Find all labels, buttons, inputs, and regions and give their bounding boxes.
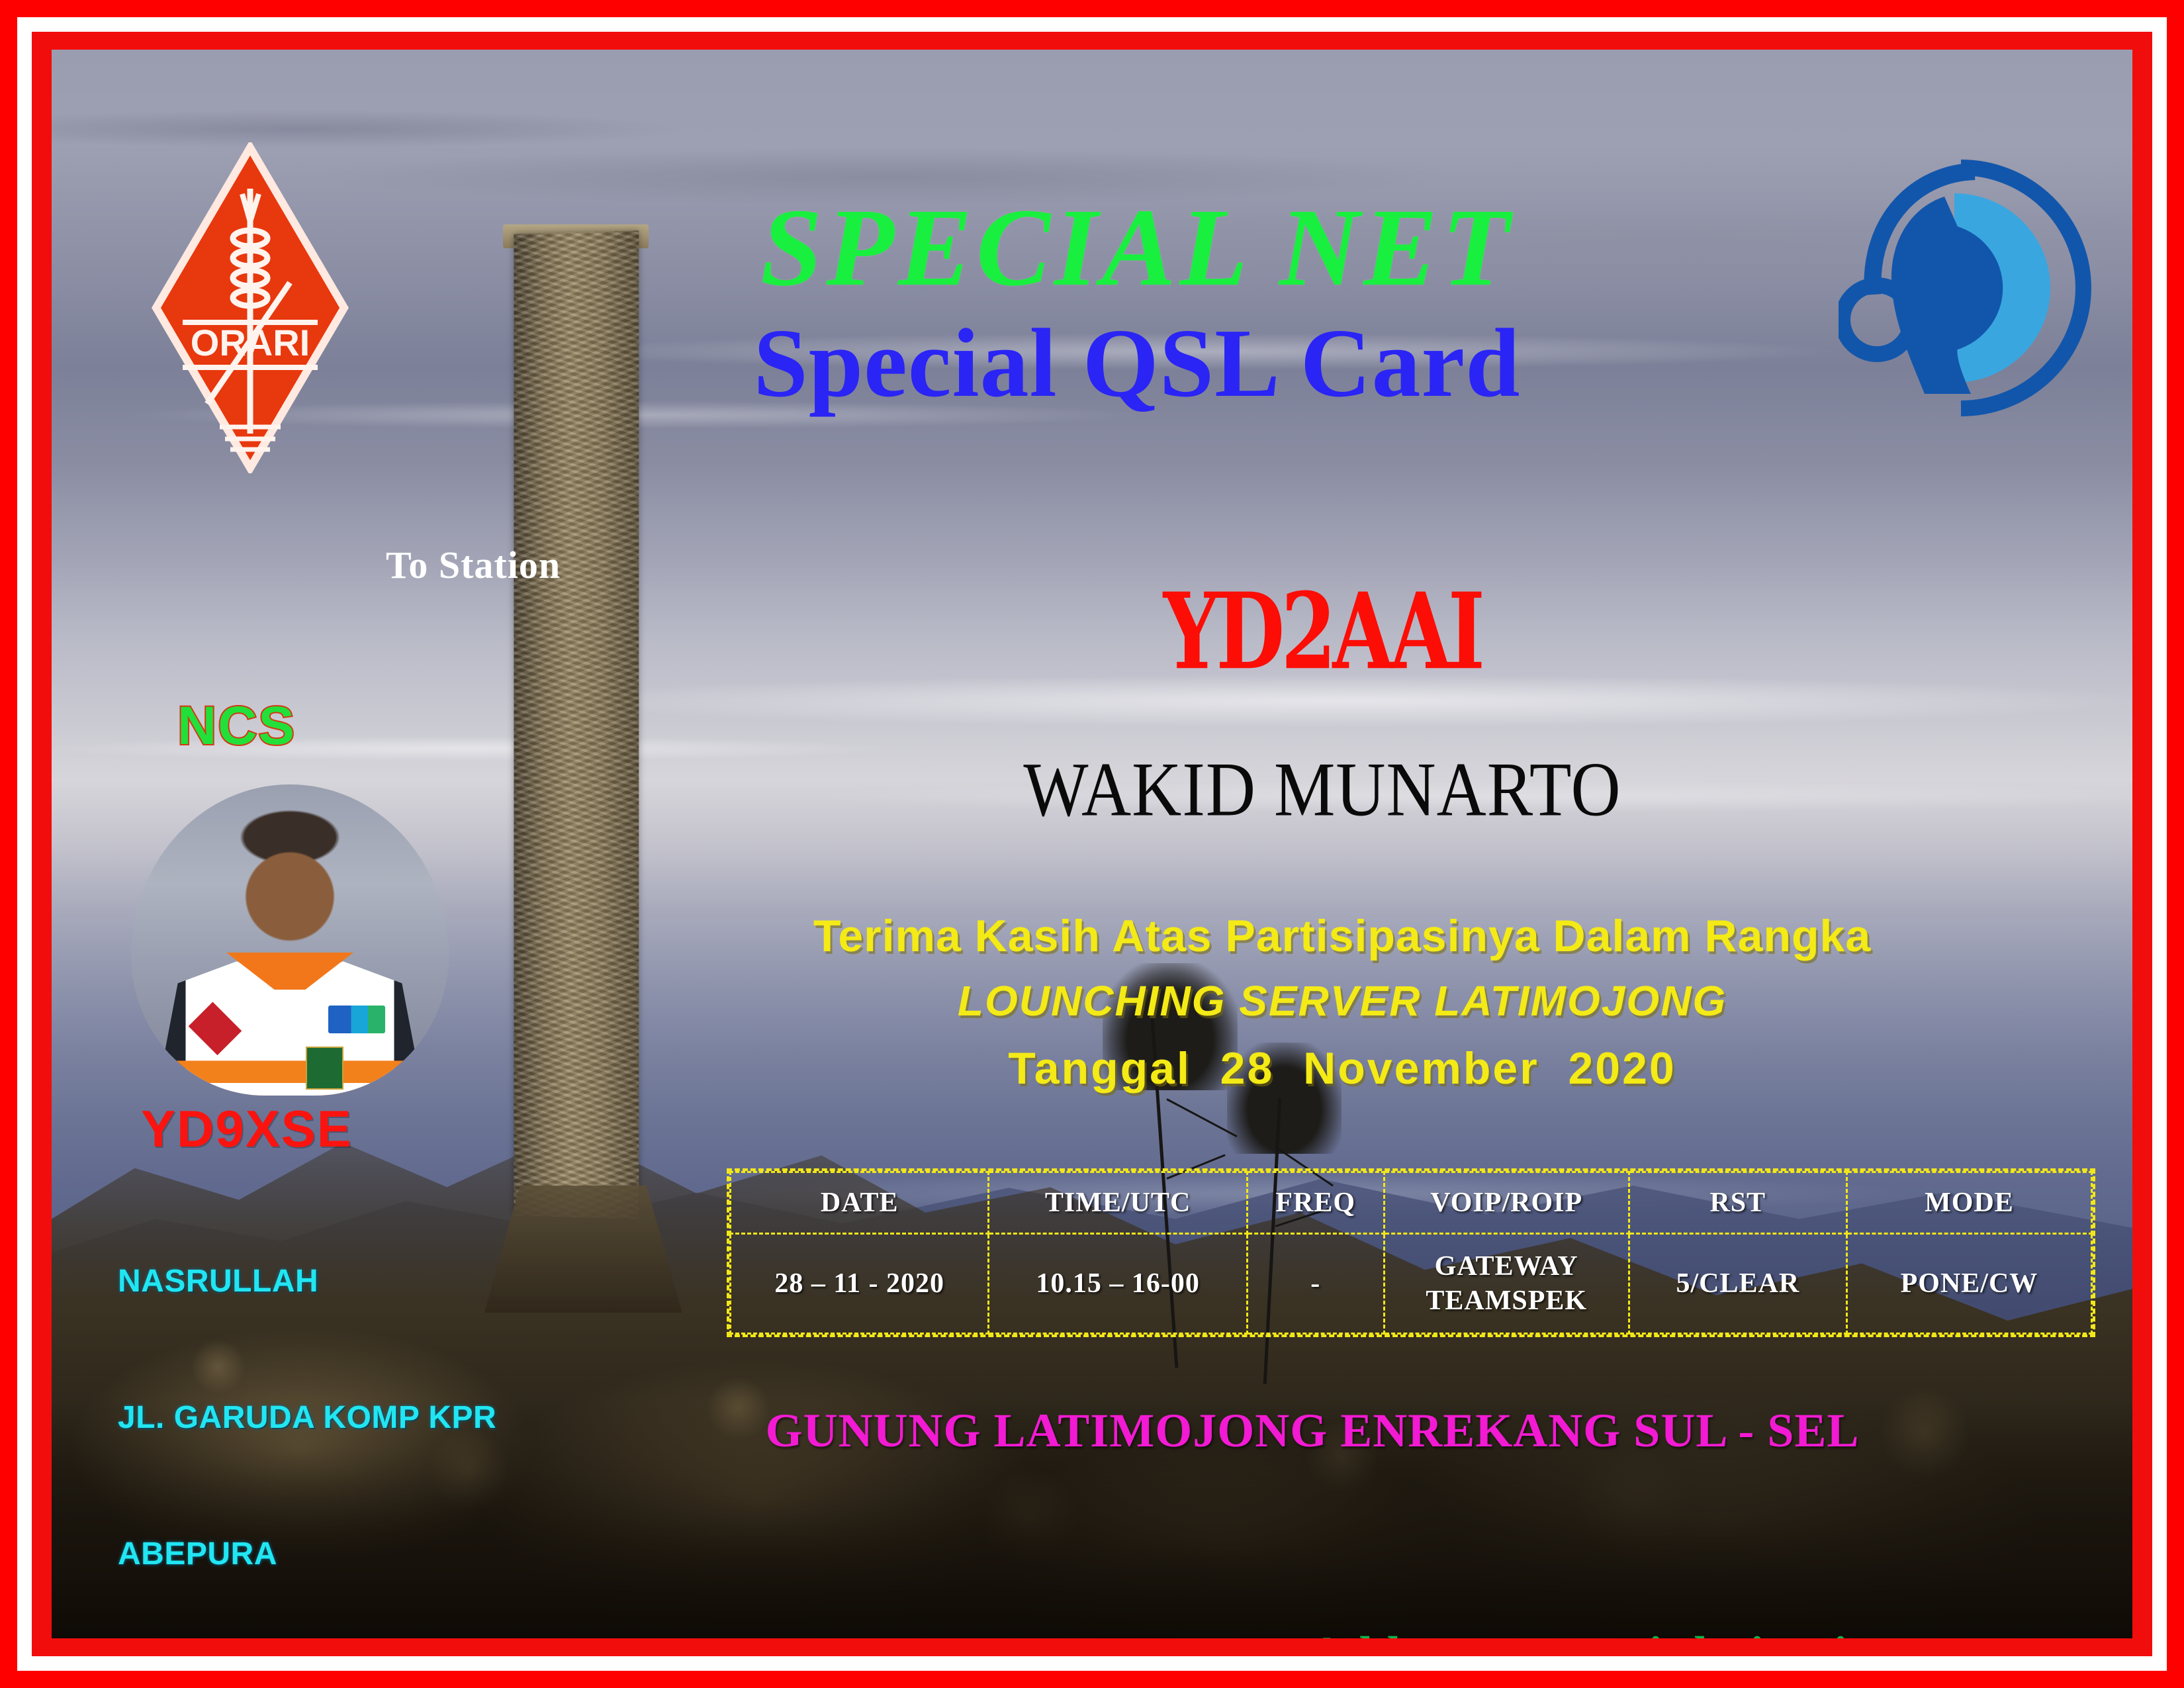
address-line: JL. GARUDA KOMP KPR [118,1395,713,1441]
column-header-freq: FREQ [1247,1172,1384,1234]
card-background-photo: ORARI [52,50,2132,1638]
ncs-label: NCS [177,695,296,757]
orari-logo-text: ORARI [191,322,310,363]
orari-logo: ORARI [151,142,349,473]
table-header-row: DATE TIME/UTC FREQ VOIP/ROIP RST MODE [731,1172,2092,1234]
page-subtitle: Special QSL Card [488,314,1786,412]
ncs-callsign: YD9XSE [141,1099,353,1159]
location-caption: GUNUNG LATIMOJONG ENREKANG SUL - SEL [700,1403,1925,1458]
column-header-time: TIME/UTC [989,1172,1247,1234]
column-header-voip: VOIP/ROIP [1384,1172,1629,1234]
operator-name: WAKID MUNARTO [793,751,1852,828]
cell-voip-line1: GATEWAY [1385,1249,1628,1284]
footer-web-address: Address : amatir.latimojong.com [1309,1626,2028,1638]
column-header-date: DATE [731,1172,989,1234]
thanks-line-2: LOUNCHING SERVER LATIMOJONG [747,976,1938,1025]
photo-id-card [306,1047,343,1090]
footer-slogan: "AMATIR RADIO ADALAH PROGRESIVE" [124,1628,1120,1638]
column-header-mode: MODE [1846,1172,2091,1234]
address-line: ABEPURA [118,1532,713,1577]
qso-details-table: DATE TIME/UTC FREQ VOIP/ROIP RST MODE 28… [727,1168,2095,1337]
table-row: 28 – 11 - 2020 10.15 – 16-00 - GATEWAY T… [731,1234,2092,1334]
photo-emblem [328,1006,385,1033]
thanks-line-3: Tanggal 28 November 2020 [747,1043,1938,1094]
thanks-line-1: Terima Kasih Atas Partisipasinya Dalam R… [747,910,1938,962]
to-station-label: To Station [386,543,561,587]
roip-headphone-logo [1839,156,2110,420]
column-header-rst: RST [1629,1172,1846,1234]
address-line: NASRULLAH [118,1259,713,1305]
cell-rst: 5/CLEAR [1629,1234,1846,1334]
cell-date: 28 – 11 - 2020 [731,1234,989,1334]
cell-mode: PONE/CW [1846,1234,2091,1334]
cell-voip: GATEWAY TEAMSPEK [1384,1234,1629,1334]
ncs-address-block: NASRULLAH JL. GARUDA KOMP KPR ABEPURA PE… [118,1168,713,1638]
cell-time: 10.15 – 16-00 [989,1234,1247,1334]
page-title: SPECIAL NET [488,192,1786,303]
station-callsign: YD2AAI [835,579,1809,684]
cell-freq: - [1247,1234,1384,1334]
cell-voip-line2: TEAMSPEK [1385,1284,1628,1319]
qsl-card: ORARI [0,0,2184,1688]
